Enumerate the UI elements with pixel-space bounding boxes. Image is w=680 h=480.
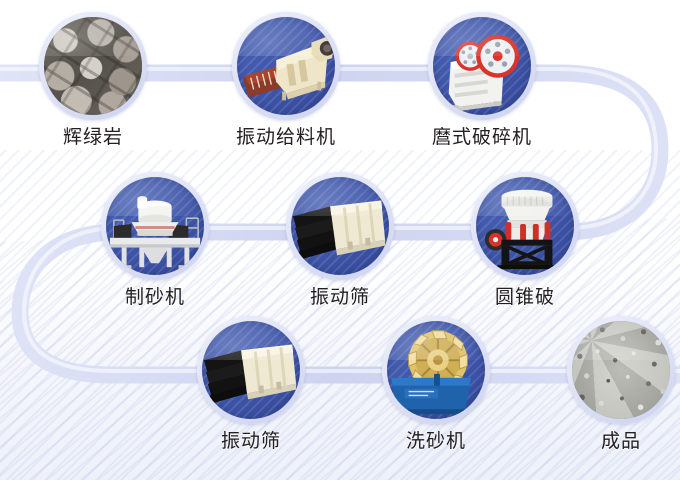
node-bubble [232,12,340,120]
node-label: 制砂机 [80,288,230,307]
bubble-disc [202,321,300,419]
node-bubble [382,316,490,424]
node-label: 辉绿岩 [18,128,168,147]
node-bubble [39,12,147,120]
bubble-disc [237,17,335,115]
node-label: 振动给料机 [211,128,361,147]
disc-gloss [237,17,335,56]
bubble-disc [572,321,670,419]
node-bubble [101,172,209,280]
node-bubble [567,316,675,424]
node-cone-crusher[interactable]: 圆锥破 [450,172,600,307]
node-label: 成品 [546,432,680,451]
disc-gloss [433,17,531,56]
node-label: 振动筛 [265,288,415,307]
node-vibrating-feeder[interactable]: 振动给料机 [211,12,361,147]
node-bubble [286,172,394,280]
node-label: 圆锥破 [450,288,600,307]
node-bubble [471,172,579,280]
node-bubble [428,12,536,120]
bubble-disc [476,177,574,275]
bubble-disc [433,17,531,115]
node-finished-product[interactable]: 成品 [546,316,680,451]
bubble-disc [44,17,142,115]
bubble-disc [291,177,389,275]
disc-gloss [291,177,389,216]
disc-gloss [572,321,670,360]
node-vibrating-screen-2[interactable]: 振动筛 [176,316,326,451]
disc-gloss [476,177,574,216]
node-jaw-crusher[interactable]: 麿式破碎机 [407,12,557,147]
node-vibrating-screen-1[interactable]: 振动筛 [265,172,415,307]
node-sand-washer[interactable]: 洗砂机 [361,316,511,451]
bubble-disc [387,321,485,419]
disc-gloss [387,321,485,360]
node-label: 振动筛 [176,432,326,451]
process-flow-diagram: 辉绿岩 [0,0,680,480]
node-bubble [197,316,305,424]
disc-gloss [106,177,204,216]
node-label: 麿式破碎机 [407,128,557,147]
disc-gloss [202,321,300,360]
disc-gloss [44,17,142,56]
node-sand-maker[interactable]: 制砂机 [80,172,230,307]
bubble-disc [106,177,204,275]
node-label: 洗砂机 [361,432,511,451]
node-diabase[interactable]: 辉绿岩 [18,12,168,147]
